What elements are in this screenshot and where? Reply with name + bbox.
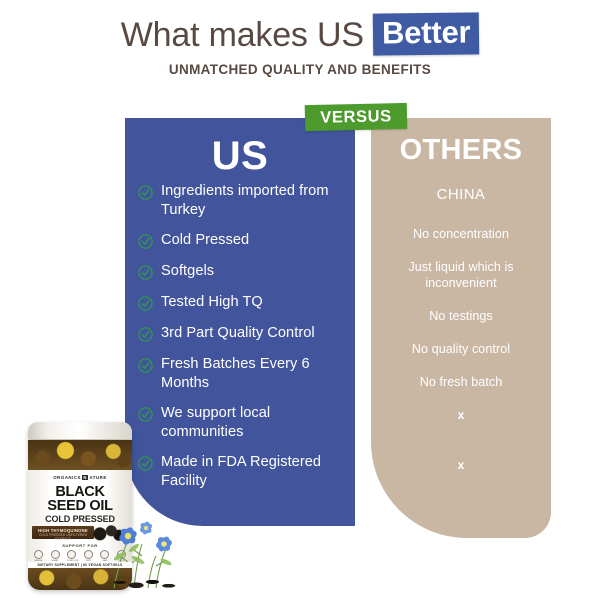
- list-item-cross-mark: x: [371, 407, 551, 423]
- list-item: Fresh Batches Every 6 Months: [138, 355, 350, 393]
- bottle-footer-text: DIETARY SUPPLEMENT | 60 VEGAN SOFTGELS: [28, 562, 132, 568]
- list-item: No testings: [371, 308, 551, 324]
- list-item: No fresh batch: [371, 374, 551, 390]
- list-item-label: Fresh Batches Every 6 Months: [161, 355, 350, 393]
- others-drawback-list: No concentration Just liquid which is in…: [371, 226, 551, 507]
- product-claim-line2: COLD PRESSED UNFILTERED EXTRACT: [32, 533, 94, 541]
- support-icon-digestion: DIGESTION: [67, 550, 76, 562]
- flower-bloom-3: [139, 521, 154, 535]
- black-seeds-pile: [108, 568, 182, 592]
- others-origin-label: CHINA: [371, 186, 551, 203]
- others-panel-title: OTHERS: [371, 134, 551, 167]
- list-item-label: Ingredients imported from Turkey: [161, 182, 350, 220]
- flower-bloom-1: [118, 526, 138, 546]
- better-badge: Better: [373, 12, 480, 55]
- support-icon-heart: HEART: [51, 550, 60, 562]
- list-item: No concentration: [371, 226, 551, 242]
- brand-monogram: N: [82, 475, 89, 480]
- softgels-top: [28, 440, 132, 470]
- flower-bloom-2: [155, 535, 173, 553]
- list-item-label: Tested High TQ: [161, 293, 263, 312]
- check-circle-icon: [138, 358, 153, 373]
- check-circle-icon: [138, 265, 153, 280]
- versus-badge: VERSUS: [305, 103, 408, 131]
- list-item-label: Cold Pressed: [161, 231, 249, 250]
- list-item: Cold Pressed: [138, 231, 350, 251]
- support-icon-immune: IMMUNE: [34, 550, 43, 562]
- brand-name-right: ATURE: [89, 475, 106, 480]
- headline-text: What makes US: [121, 14, 364, 56]
- check-circle-icon: [138, 296, 153, 311]
- check-circle-icon: [138, 234, 153, 249]
- check-circle-icon: [138, 185, 153, 200]
- list-item: Just liquid which is inconvenient: [371, 259, 551, 291]
- others-panel: OTHERS CHINA No concentration Just liqui…: [371, 118, 551, 538]
- comparison-infographic: What makes USBetter UNMATCHED QUALITY AN…: [0, 0, 600, 600]
- list-item: 3rd Part Quality Control: [138, 324, 350, 344]
- product-claim-line1: HIGH THYMOQUINONE: [32, 528, 94, 533]
- list-item-cross-mark: x: [371, 457, 551, 473]
- list-item-label: 3rd Part Quality Control: [161, 324, 315, 343]
- list-item-label: We support local communities: [161, 404, 350, 442]
- brand-name: ORGANICSNATURE: [28, 475, 132, 480]
- bottle-cap: [28, 422, 132, 440]
- support-icon-skin: SKIN: [84, 550, 93, 562]
- list-item-label: Softgels: [161, 262, 214, 281]
- supplement-bottle: ORGANICSNATURE BLACK SEED OIL COLD PRESS…: [28, 422, 132, 590]
- list-item: Softgels: [138, 262, 350, 282]
- check-circle-icon: [138, 327, 153, 342]
- list-item-label: Made in FDA Registered Facility: [161, 453, 350, 491]
- product-claim-badge: HIGH THYMOQUINONE COLD PRESSED UNFILTERE…: [32, 526, 94, 539]
- page-title: What makes USBetter: [0, 12, 600, 56]
- list-item: Tested High TQ: [138, 293, 350, 313]
- page-subtitle: UNMATCHED QUALITY AND BENEFITS: [0, 62, 600, 77]
- brand-name-left: ORGANICS: [53, 475, 81, 480]
- list-item: No quality control: [371, 341, 551, 357]
- us-panel-title: US: [125, 134, 355, 179]
- list-item: Ingredients imported from Turkey: [138, 182, 350, 220]
- product-image: ORGANICSNATURE BLACK SEED OIL COLD PRESS…: [12, 418, 172, 593]
